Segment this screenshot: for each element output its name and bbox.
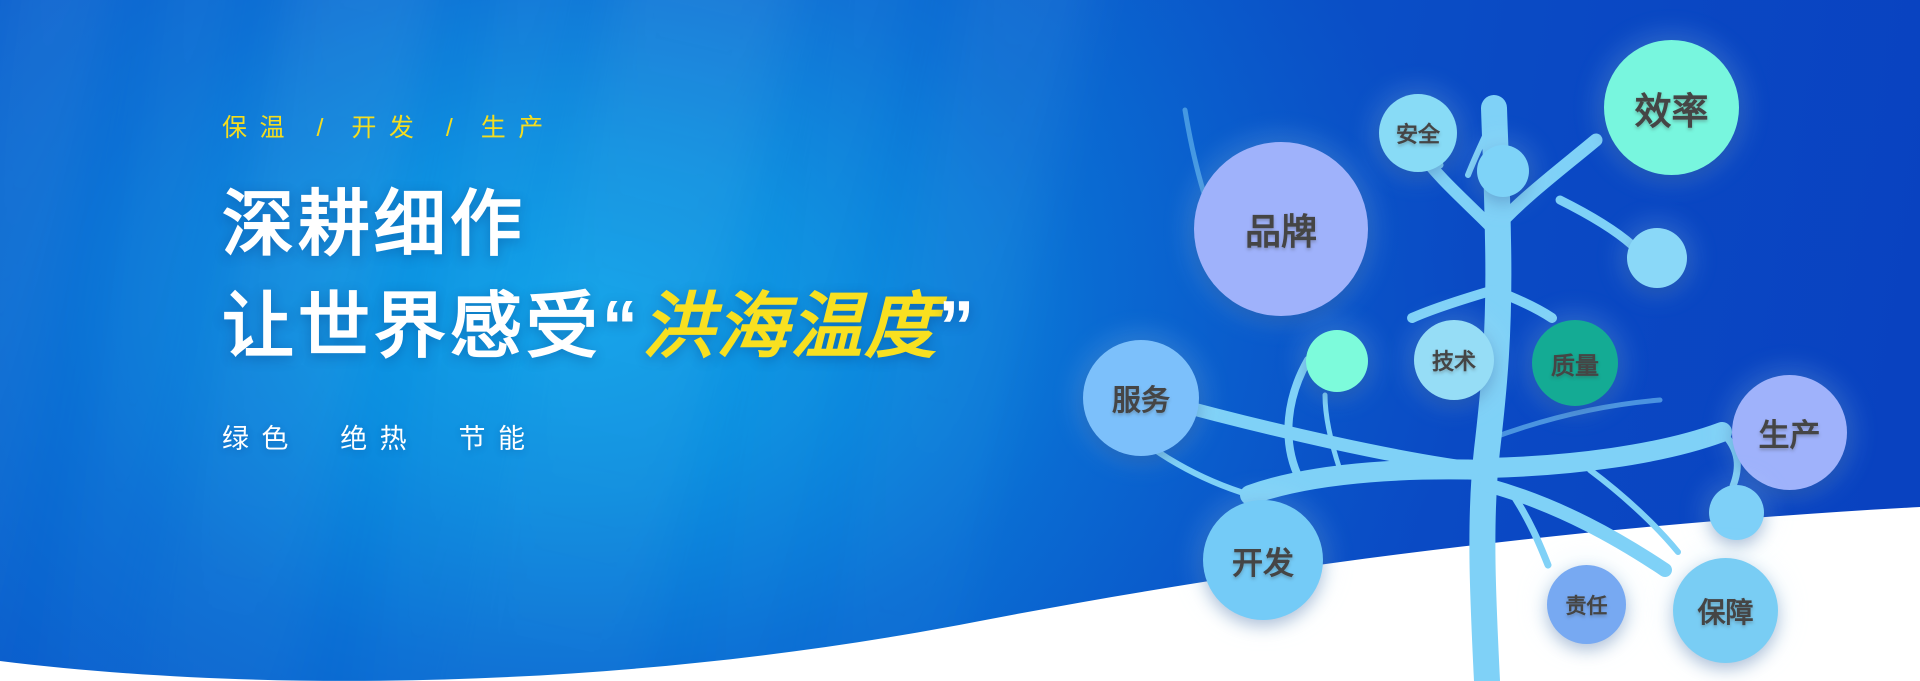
bubble-label: 保障 <box>1697 591 1753 631</box>
bubble-效率: 效率 <box>1604 40 1739 175</box>
bubble-label: 效率 <box>1635 81 1709 135</box>
bubble-label: 责任 <box>1566 590 1608 620</box>
bubble-decorative-11 <box>1709 485 1764 540</box>
bubble-label: 生产 <box>1759 410 1821 455</box>
bubble-decorative-2 <box>1477 145 1529 197</box>
bubble-责任: 责任 <box>1547 565 1626 644</box>
bubble-label: 质量 <box>1551 346 1599 381</box>
bubble-decorative-4 <box>1627 228 1687 288</box>
bubble-label: 服务 <box>1112 377 1170 419</box>
bubble-label: 开发 <box>1232 538 1294 583</box>
bubble-decorative-5 <box>1306 330 1368 392</box>
bubble-品牌: 品牌 <box>1194 142 1368 316</box>
bubble-生产: 生产 <box>1732 375 1847 490</box>
bubble-安全: 安全 <box>1379 94 1457 172</box>
bubble-label: 技术 <box>1432 344 1476 376</box>
bubble-label: 安全 <box>1396 117 1440 149</box>
bubble-label: 品牌 <box>1245 203 1317 255</box>
bubble-质量: 质量 <box>1532 320 1618 406</box>
bubble-技术: 技术 <box>1414 320 1494 400</box>
bubble-服务: 服务 <box>1083 340 1199 456</box>
tree-graphic: 品牌安全效率技术质量服务生产开发责任保障 <box>0 0 1920 681</box>
hero-banner: 保温 / 开发 / 生产 深耕细作 让世界感受“洪海温度” 绿色 绝热 节能 <box>0 0 1920 681</box>
bubble-保障: 保障 <box>1673 558 1778 663</box>
bubble-开发: 开发 <box>1203 500 1323 620</box>
